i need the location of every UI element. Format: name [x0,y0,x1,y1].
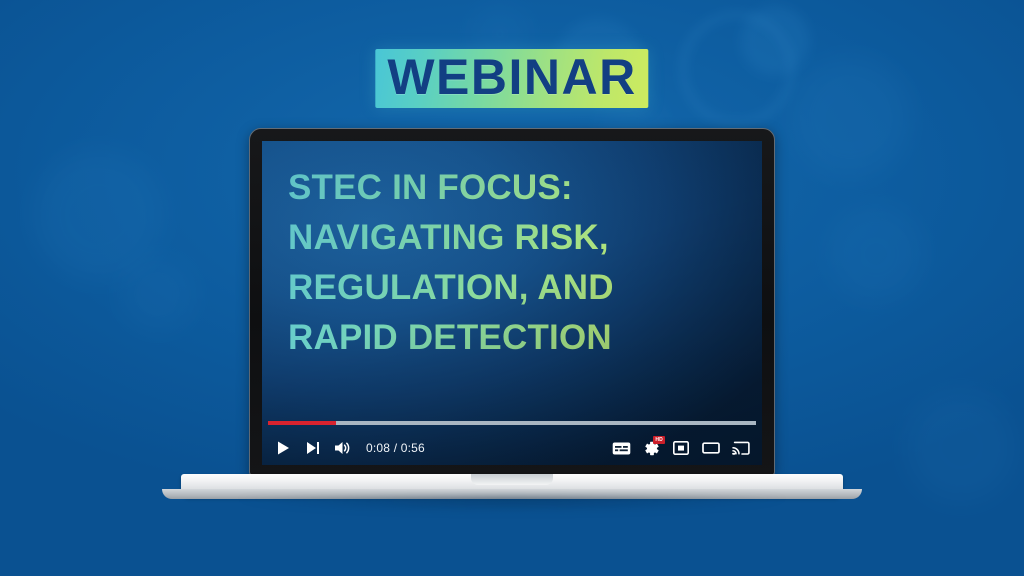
video-title-line-2: NAVIGATING RISK, [288,213,738,263]
video-title: STEC IN FOCUS: NAVIGATING RISK, REGULATI… [288,163,738,363]
video-title-line-3: REGULATION, AND [288,263,738,313]
hd-badge: HD [653,436,665,444]
progress-bar-played [268,421,336,425]
volume-button[interactable] [328,434,358,462]
video-title-line-4: RAPID DETECTION [288,313,738,363]
miniplayer-button[interactable] [666,434,696,462]
controls-row: 0:08 / 0:56 [262,432,762,464]
laptop-base-notch [471,474,553,485]
video-screen[interactable]: STEC IN FOCUS: NAVIGATING RISK, REGULATI… [262,141,762,465]
progress-bar[interactable] [268,421,756,425]
laptop-mockup: STEC IN FOCUS: NAVIGATING RISK, REGULATI… [0,0,1024,576]
next-track-button[interactable] [298,434,328,462]
theater-mode-button[interactable] [696,434,726,462]
video-player-controls: 0:08 / 0:56 [262,408,762,465]
cast-button[interactable] [726,434,756,462]
laptop-shadow [154,497,870,517]
time-display: 0:08 / 0:56 [366,441,425,455]
video-title-line-1: STEC IN FOCUS: [288,163,738,213]
play-button[interactable] [268,434,298,462]
webinar-promo-graphic: WEBINAR STEC IN FOCUS: NAVIGATING RISK, … [0,0,1024,576]
settings-button[interactable]: HD [636,434,666,462]
subtitles-button[interactable] [606,434,636,462]
